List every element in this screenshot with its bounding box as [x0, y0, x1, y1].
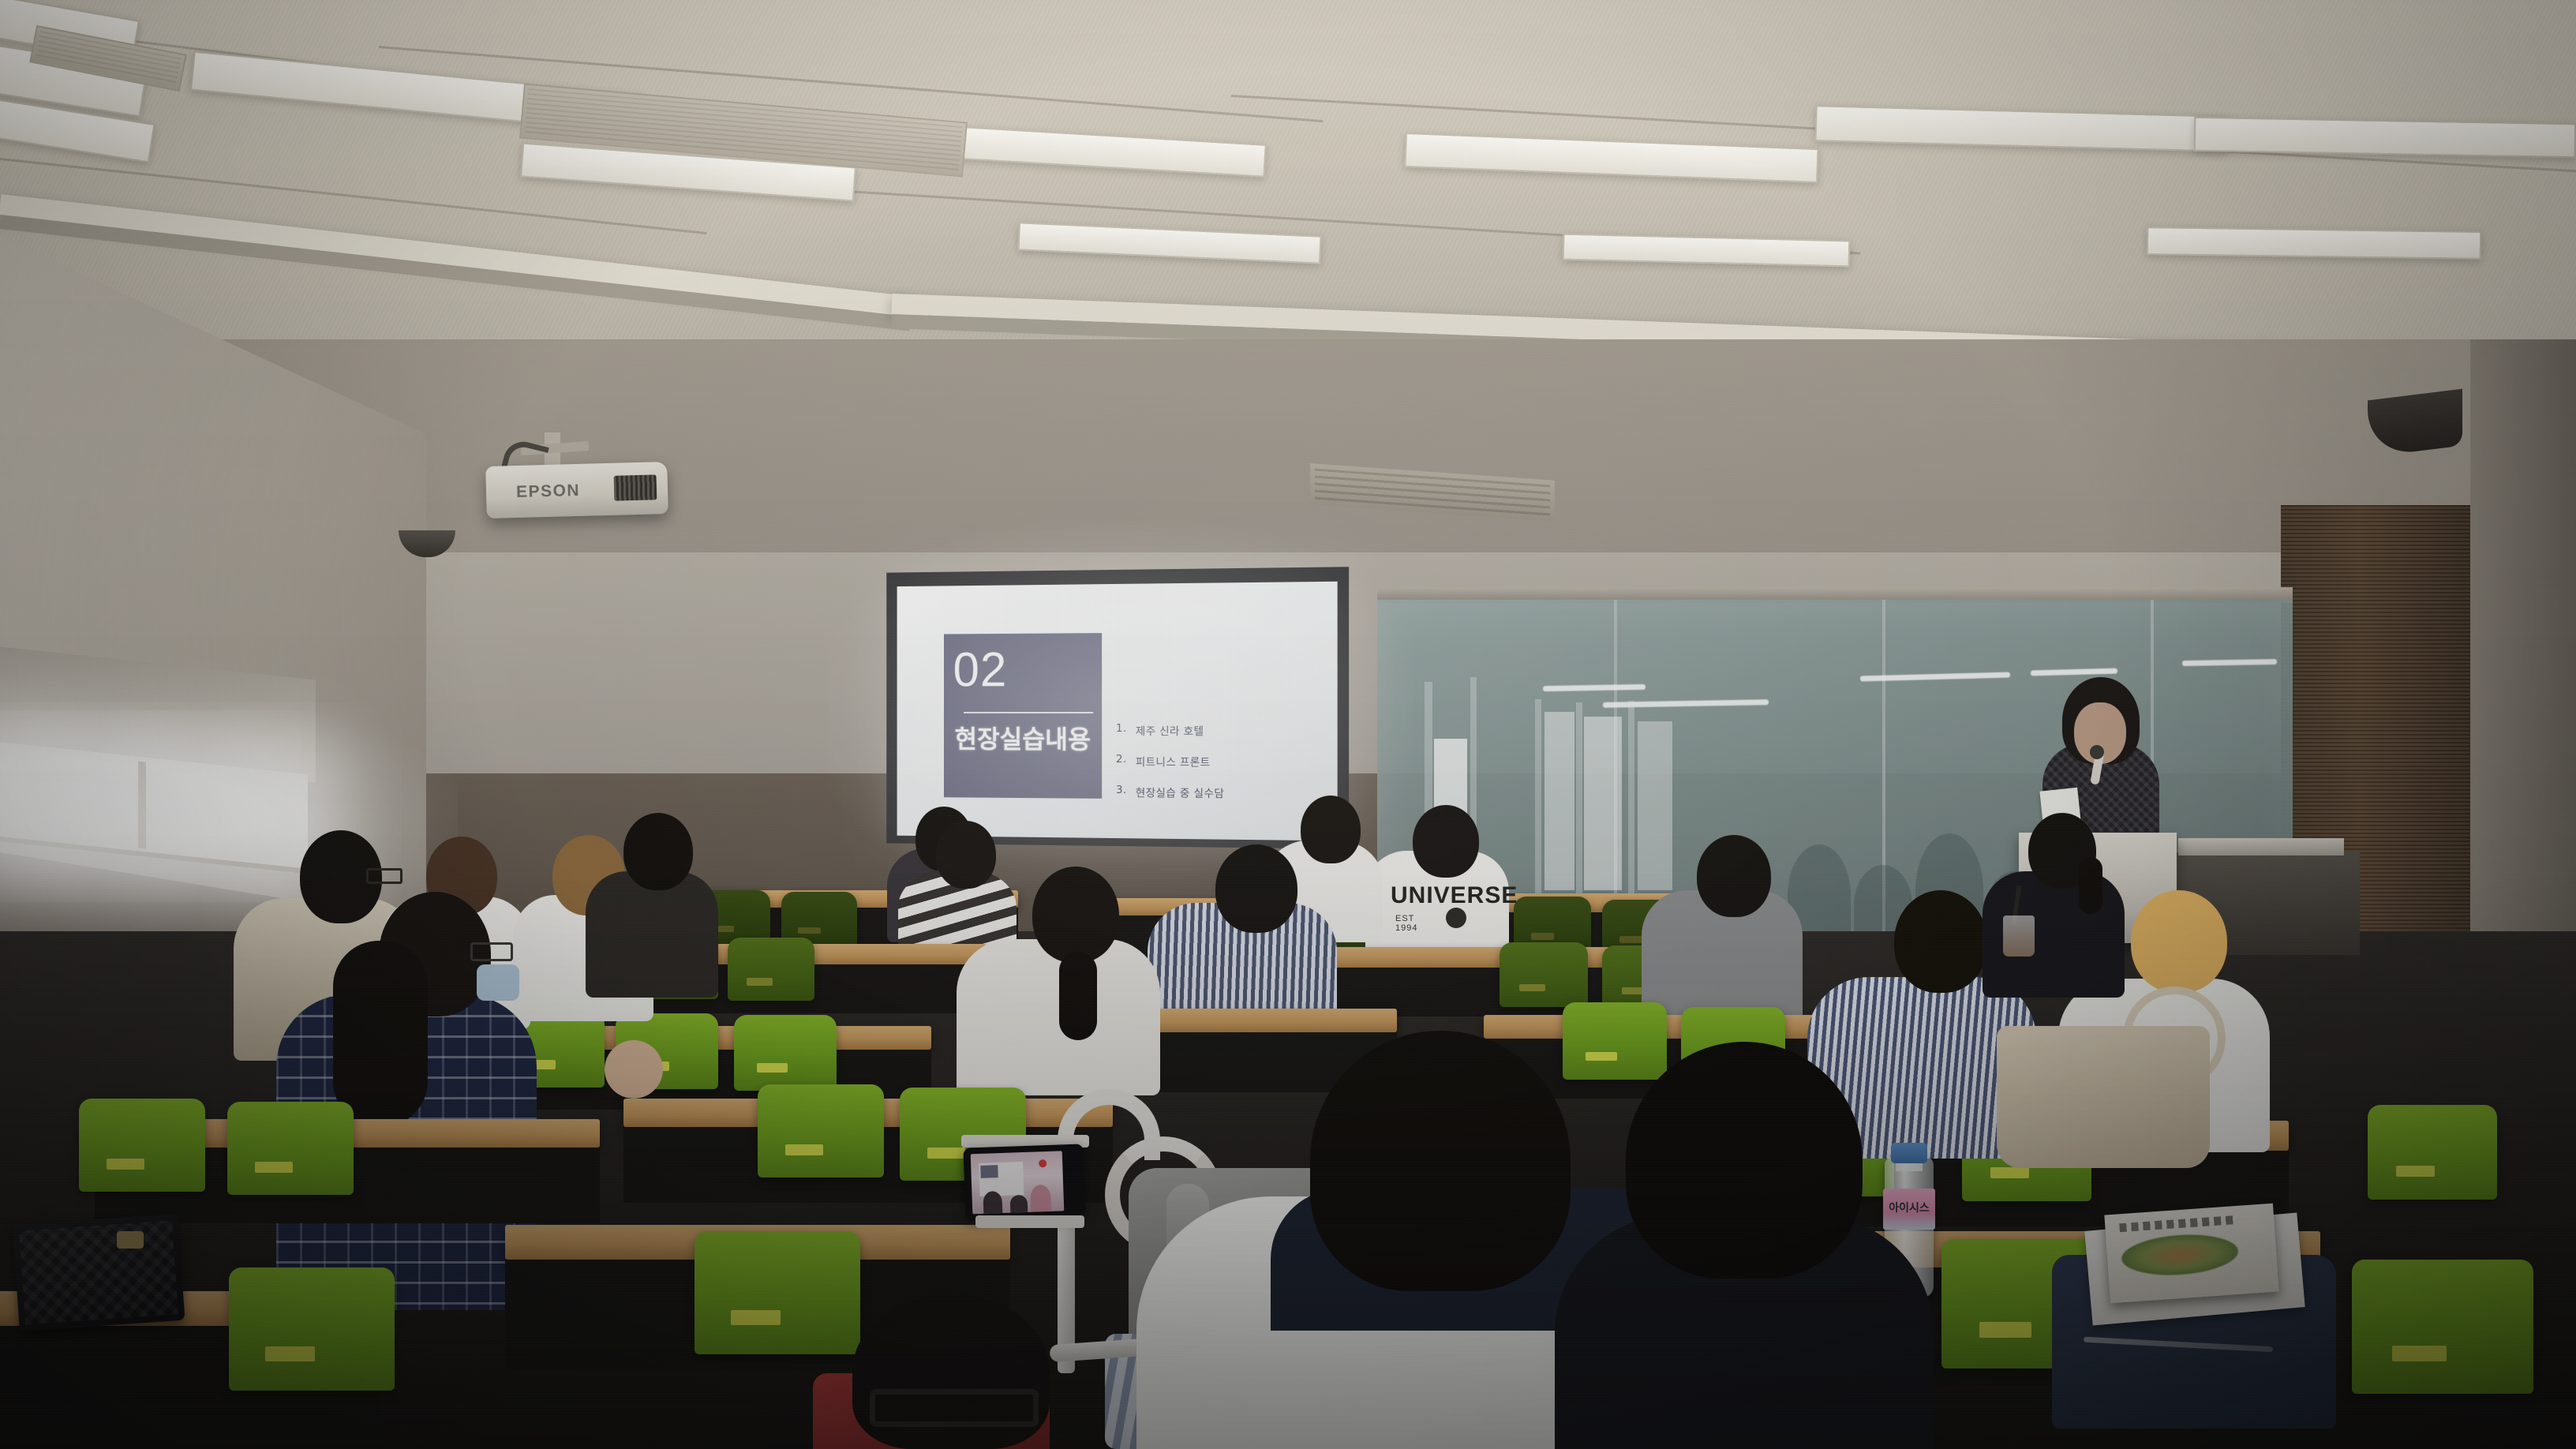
chair	[79, 1099, 205, 1192]
projected-slide: 02 현장실습내용 1. 제주 신라 호텔 2. 피트니스 프론트 3. 현장실…	[897, 582, 1338, 841]
slide-list-text: 현장실습 중 실수담	[1136, 784, 1224, 800]
long-hair	[333, 941, 428, 1127]
ceiling-fixtures	[0, 0, 2576, 379]
eyeglasses	[870, 1389, 1039, 1427]
slide-list-text: 제주 신라 호텔	[1136, 722, 1204, 738]
chair	[695, 1231, 860, 1354]
slide-list-item: 3. 현장실습 중 실수담	[1116, 784, 1316, 801]
face-mask	[477, 964, 519, 1001]
projection-screen: 02 현장실습내용 1. 제주 신라 호텔 2. 피트니스 프론트 3. 현장실…	[886, 567, 1349, 849]
handbag-clasp	[117, 1231, 144, 1249]
reflected-ceiling-light	[1543, 684, 1646, 691]
iced-drink-cup	[2003, 915, 2035, 957]
ponytail	[2079, 857, 2102, 914]
chair	[2368, 1105, 2497, 1200]
ceiling-light-panel	[2194, 117, 2576, 158]
slide-list-index: 2.	[1116, 753, 1127, 769]
projector-vent-grille	[614, 474, 657, 500]
ponytail	[1059, 952, 1097, 1040]
slide-accent-box: 02 현장실습내용	[944, 633, 1102, 799]
eyeglasses	[366, 868, 402, 884]
slide-list-text: 피트니스 프론트	[1136, 753, 1211, 769]
water-bottle-label: 아이시스	[1883, 1189, 1935, 1230]
black-quilted-handbag	[13, 1214, 185, 1331]
water-bottle-brand: 아이시스	[1883, 1200, 1935, 1215]
phone-clamp-lower	[975, 1215, 1084, 1228]
window-mullion	[138, 761, 146, 848]
reflected-ceiling-light	[2031, 668, 2117, 676]
chair	[734, 1015, 837, 1091]
raised-hand	[605, 1040, 663, 1099]
ceiling-light-panel	[1814, 105, 2229, 152]
slide-number: 02	[953, 646, 1008, 695]
ceiling-light-panel	[1563, 234, 1851, 268]
book-cover-title	[2119, 1215, 2237, 1232]
chair	[1563, 1002, 1667, 1080]
illustrated-book	[2104, 1204, 2278, 1304]
ceiling-light-panel	[1404, 133, 1818, 183]
water-bottle-cap	[1891, 1143, 1927, 1163]
slide-bullet-list: 1. 제주 신라 호텔 2. 피트니스 프론트 3. 현장실습 중 실수담	[1116, 722, 1316, 816]
slide-divider-rule	[964, 712, 1093, 713]
ceiling-light-panel	[923, 124, 1267, 178]
book-cover-illustration	[2121, 1231, 2240, 1279]
slide-list-item: 1. 제주 신라 호텔	[1116, 722, 1316, 739]
chair	[2352, 1260, 2533, 1394]
podium-side-shelf	[2178, 838, 2344, 856]
right-side-wall	[2470, 339, 2576, 987]
microphone-head	[2090, 745, 2104, 759]
chair	[229, 1267, 395, 1391]
slide-list-index: 1.	[1116, 722, 1127, 738]
slide-title: 현장실습내용	[944, 720, 1102, 756]
ceiling-light-panel	[2147, 227, 2481, 260]
phone-screen-slide-preview	[979, 1162, 1024, 1196]
eyeglasses	[470, 942, 513, 961]
tshirt-subtext: EST 1994	[1395, 914, 1417, 933]
tote-bag	[1997, 1026, 2210, 1168]
reflected-ceiling-light	[2182, 659, 2277, 666]
chair	[728, 938, 814, 1001]
tshirt-globe-graphic	[1446, 908, 1466, 928]
ceiling-projector: EPSON	[485, 462, 668, 519]
ceiling-light-panel	[1017, 222, 1321, 264]
lecture-hall-photo: 02 현장실습내용 1. 제주 신라 호텔 2. 피트니스 프론트 3. 현장실…	[0, 0, 2576, 1449]
smartphone-recording[interactable]	[963, 1144, 1085, 1220]
slide-list-index: 3.	[1116, 784, 1127, 799]
slide-list-item: 2. 피트니스 프론트	[1116, 753, 1316, 769]
chair	[1500, 942, 1588, 1007]
smartphone-screen	[971, 1151, 1065, 1214]
tshirt-text: UNIVERSE	[1391, 882, 1518, 909]
chair	[227, 1102, 354, 1195]
chair	[758, 1084, 884, 1178]
projector-brand-label: EPSON	[516, 481, 581, 502]
